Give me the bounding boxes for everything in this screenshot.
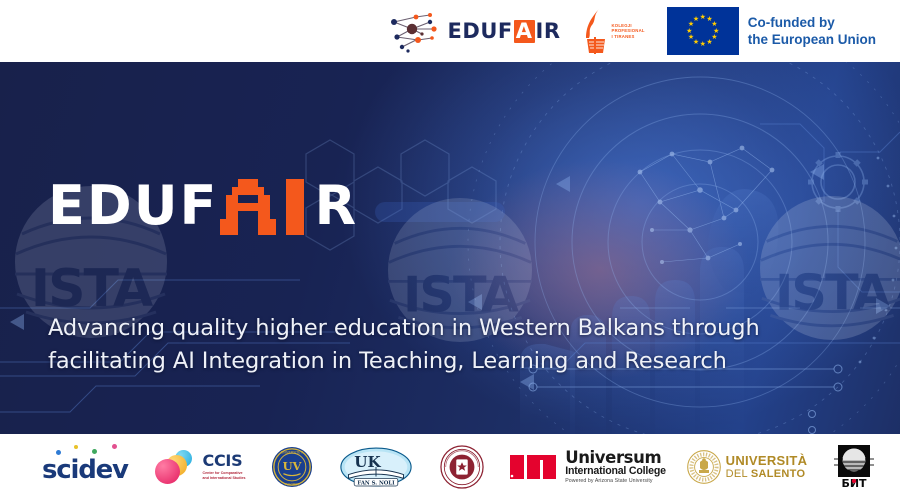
universum-international-college-logo: Universum International College Powered …	[502, 450, 672, 485]
top-logo-bar: EDUFAIR KOLEGJI PROFESIONAL I TIRANES	[0, 0, 900, 62]
hero-title: EDUF R	[48, 178, 358, 234]
scidev-logo: scidev	[26, 444, 146, 490]
universum-sub-2: Powered by Arizona State University	[565, 479, 666, 484]
eu-star-icon: ★	[706, 39, 713, 46]
eu-star-icon: ★	[699, 41, 706, 48]
university-seal-icon	[440, 445, 484, 489]
hero-banner: ISTA ISTA	[0, 62, 900, 434]
fan-noli-icon: UK FAN S. NOLI	[339, 446, 413, 488]
universita-del-salento-logo: UNIVERSITÀ DEL SALENTO	[672, 450, 822, 484]
hero-subtitle-line-2: facilitating AI Integration in Teaching,…	[48, 345, 768, 378]
edufair-wordmark-a: A	[514, 20, 535, 43]
kolegji-logo-text: KOLEGJI PROFESIONAL I TIRANES	[612, 23, 645, 39]
kolegji-line-3: I TIRANES	[612, 34, 645, 39]
uni-mark-icon	[508, 453, 560, 481]
eu-star-icon: ★	[688, 34, 695, 41]
university-seal-logo	[422, 445, 502, 489]
universum-wordmark: Universum	[565, 450, 666, 467]
co-funded-by-eu-logo: ★★★★★★★★★★★★ Co-funded by the European U…	[667, 7, 876, 55]
uk-fan-s-noli-logo: UK FAN S. NOLI	[330, 446, 422, 488]
partner-logo-bar: scidev CCIS Center for Comparative and I…	[0, 434, 900, 500]
kolegji-profesional-tirane-logo: KOLEGJI PROFESIONAL I TIRANES	[583, 7, 645, 55]
svg-text:ISTA: ISTA	[31, 259, 153, 319]
salento-sub-2: SALENTO	[751, 468, 805, 480]
fan-noli-label: FAN S. NOLI	[357, 480, 395, 486]
eu-logo-text: Co-funded by the European Union	[748, 14, 876, 49]
edufair-logo: EDUFAIR	[386, 9, 561, 53]
edufair-wordmark-edu: EDUF	[448, 21, 513, 42]
top-logo-group: EDUFAIR KOLEGJI PROFESIONAL I TIRANES	[386, 7, 876, 55]
universum-sub-1: International College	[565, 466, 666, 477]
hero-title-edu: EDUF	[48, 179, 218, 233]
kolegji-line-2: PROFESIONAL	[612, 28, 645, 33]
bit-logo: БИТ	[822, 445, 886, 489]
eu-star-icon: ★	[686, 28, 693, 35]
ccis-sub-2: and International Studies	[203, 476, 246, 481]
hero-subtitle: Advancing quality higher education in We…	[48, 312, 768, 377]
salento-wordmark: UNIVERSITÀ	[726, 454, 808, 468]
ccis-spheres-icon	[155, 450, 201, 484]
svg-text:UNIVERSITETI: UNIVERSITETI	[281, 450, 303, 454]
svg-text:UK: UK	[354, 453, 381, 471]
scidev-wordmark: scidev	[42, 455, 128, 485]
edufair-wordmark: EDUFAIR	[448, 20, 561, 43]
promo-banner-page: EDUFAIR KOLEGJI PROFESIONAL I TIRANES	[0, 0, 900, 500]
edufair-wordmark-r: R	[544, 21, 561, 42]
flame-book-icon	[583, 7, 609, 55]
svg-text:ISTA: ISTA	[775, 264, 891, 322]
svg-text:I VLORES: I VLORES	[285, 482, 300, 486]
eu-flag-icon: ★★★★★★★★★★★★	[667, 7, 739, 55]
eu-text-line-2: the European Union	[748, 31, 876, 48]
hero-title-r: R	[314, 179, 358, 233]
edufair-wordmark-i: I	[536, 21, 544, 42]
network-nodes-icon	[386, 9, 446, 53]
salento-sub-1: DEL	[726, 468, 748, 480]
ccis-logo: CCIS Center for Comparative and Internat…	[146, 450, 254, 484]
salento-crest-icon	[687, 450, 721, 484]
svg-text:UV: UV	[283, 459, 303, 473]
ccis-wordmark: CCIS	[203, 453, 246, 469]
uv-seal-icon: UNIVERSITETI I VLORES UV	[271, 446, 313, 488]
eu-star-icon: ★	[693, 16, 700, 23]
eu-text-line-1: Co-funded by	[748, 14, 876, 31]
hero-subtitle-line-1: Advancing quality higher education in We…	[48, 312, 768, 345]
bit-sphere-icon: БИТ	[834, 445, 874, 489]
pixel-ai-icon	[220, 179, 312, 235]
hero-title-ai-blocks	[220, 179, 312, 235]
universiteti-vlores-logo: UNIVERSITETI I VLORES UV	[254, 446, 330, 488]
